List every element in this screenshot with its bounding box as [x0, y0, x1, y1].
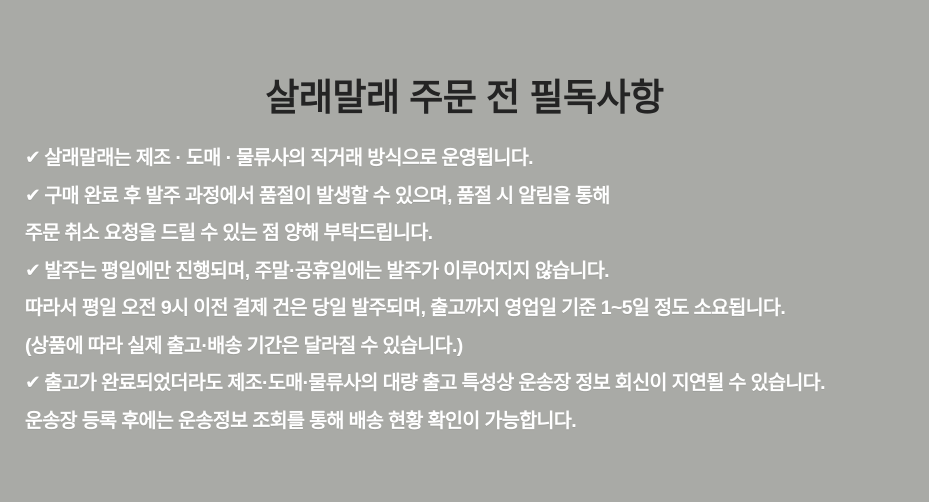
highlighted-text: 발주 과정에서 품절: [145, 185, 293, 207]
notice-canvas: 살래말래 주문 전 필독사항 ✔살래말래는 제조 · 도매 · 물류사의 직거래…: [0, 0, 929, 502]
notice-text: 이 발생할 수 있으며, 품절 시 알림을 통해: [294, 185, 610, 207]
notice-text: 발주는: [44, 260, 101, 282]
notice-text: 구매 완료 후: [44, 185, 145, 207]
notice-line: 운송장 등록 후에는 운송정보 조회를 통해 배송 현황 확인이 가능합니다.: [25, 403, 915, 441]
notice-line: 주문 취소 요청을 드릴 수 있는 점 양해 부탁드립니다.: [25, 215, 915, 253]
notice-text: 되며, 주말·공휴일에는 발주가 이루어지지 않습니다.: [210, 260, 609, 282]
notice-text: 주문 취소 요청을 드릴 수 있는 점 양해 부탁드립니다.: [25, 222, 433, 244]
notice-line: ✔구매 완료 후 발주 과정에서 품절이 발생할 수 있으며, 품절 시 알림을…: [25, 178, 915, 216]
check-icon: ✔: [25, 140, 40, 178]
notice-text: (상품에 따라 실제 출고·배송 기간은 달라질 수 있습니다.): [25, 335, 463, 357]
notice-line: 따라서 평일 오전 9시 이전 결제 건은 당일 발주되며, 출고까지 영업일 …: [25, 290, 915, 328]
highlighted-text: 운송장 정보 회신이 지연: [519, 372, 707, 394]
notice-text: 건은 당일 발주되며, 출고까지 영업일 기준 1~5일 정도 소요됩니다.: [267, 297, 785, 319]
check-icon: ✔: [25, 252, 40, 290]
notice-text: 출고가 완료되었더라도 제조·도매·물류사의 대량 출고 특성상: [44, 372, 518, 394]
notice-text: 따라서: [25, 297, 82, 319]
check-icon: ✔: [25, 365, 40, 403]
notice-body: ✔살래말래는 제조 · 도매 · 물류사의 직거래 방식으로 운영됩니다.✔구매…: [25, 140, 915, 440]
notice-line: ✔살래말래는 제조 · 도매 · 물류사의 직거래 방식으로 운영됩니다.: [25, 140, 915, 178]
highlighted-text: 평일에만 진행: [101, 260, 210, 282]
page-title: 살래말래 주문 전 필독사항: [0, 77, 929, 120]
check-icon: ✔: [25, 177, 40, 215]
notice-text: 운송장 등록 후에는 운송정보 조회를 통해 배송 현황 확인이 가능합니다.: [25, 410, 576, 432]
notice-line: ✔출고가 완료되었더라도 제조·도매·물류사의 대량 출고 특성상 운송장 정보…: [25, 365, 915, 403]
notice-text: 으로 운영됩니다.: [402, 147, 533, 169]
notice-line: ✔발주는 평일에만 진행되며, 주말·공휴일에는 발주가 이루어지지 않습니다.: [25, 253, 915, 291]
notice-line: (상품에 따라 실제 출고·배송 기간은 달라질 수 있습니다.): [25, 328, 915, 366]
notice-text: 살래말래는: [44, 147, 136, 169]
highlighted-text: 제조 · 도매 · 물류사의 직거래 방식: [136, 147, 402, 169]
highlighted-text: 평일 오전 9시 이전 결제: [82, 297, 268, 319]
notice-text: 될 수 있습니다.: [706, 372, 825, 394]
